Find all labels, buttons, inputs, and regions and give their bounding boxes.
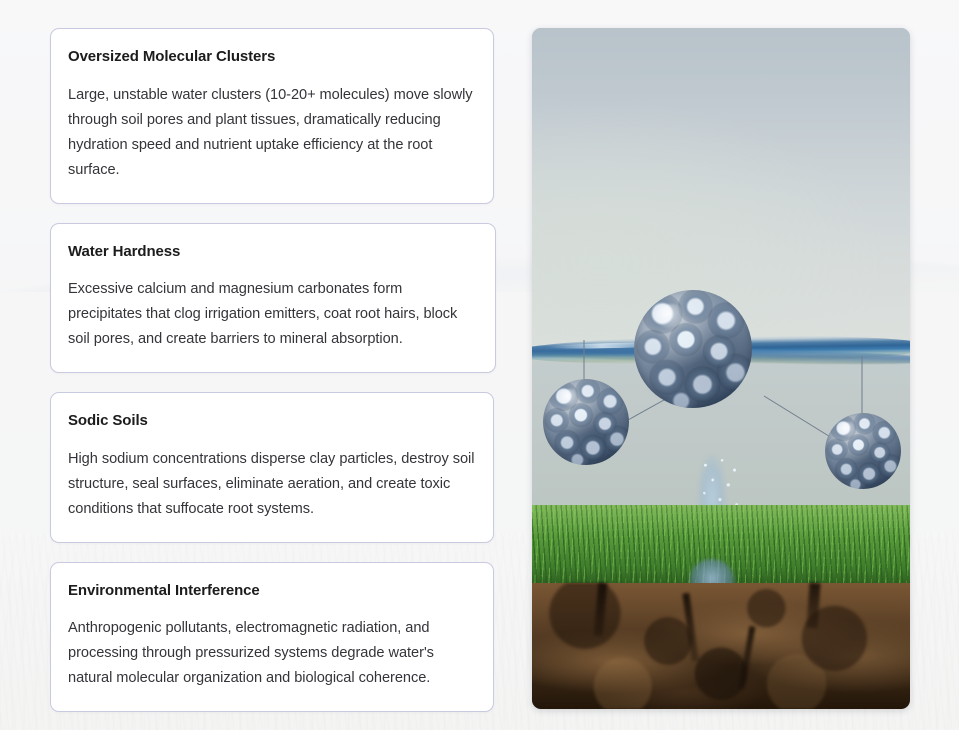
soil-crack <box>682 593 698 661</box>
soil-crack <box>806 583 820 629</box>
card-body: High sodium concentrations disperse clay… <box>68 447 476 522</box>
hero-illustration <box>532 28 910 709</box>
card-body: Large, unstable water clusters (10-20+ m… <box>68 83 476 183</box>
soil-crack <box>738 626 755 689</box>
card-body: Anthropogenic pollutants, electromagneti… <box>68 616 476 691</box>
molecular-cluster-main <box>634 290 752 408</box>
card-body: Excessive calcium and magnesium carbonat… <box>68 277 478 352</box>
card-title: Environmental Interference <box>68 581 476 601</box>
hero-soil-layer <box>532 583 910 709</box>
card-title: Oversized Molecular Clusters <box>68 47 476 67</box>
info-card-water-hardness[interactable]: Water Hardness Excessive calcium and mag… <box>50 223 496 374</box>
info-card-sodic-soils[interactable]: Sodic Soils High sodium concentrations d… <box>50 392 494 543</box>
info-card-environmental-interference[interactable]: Environmental Interference Anthropogenic… <box>50 562 494 713</box>
soil-crack <box>594 583 608 636</box>
molecular-cluster-left <box>543 379 629 465</box>
page-layout: Oversized Molecular Clusters Large, unst… <box>0 0 959 730</box>
info-cards-column: Oversized Molecular Clusters Large, unst… <box>50 28 494 712</box>
card-title: Water Hardness <box>68 242 478 262</box>
card-title: Sodic Soils <box>68 411 476 431</box>
molecular-cluster-right <box>825 413 901 489</box>
info-card-oversized-molecular-clusters[interactable]: Oversized Molecular Clusters Large, unst… <box>50 28 494 204</box>
